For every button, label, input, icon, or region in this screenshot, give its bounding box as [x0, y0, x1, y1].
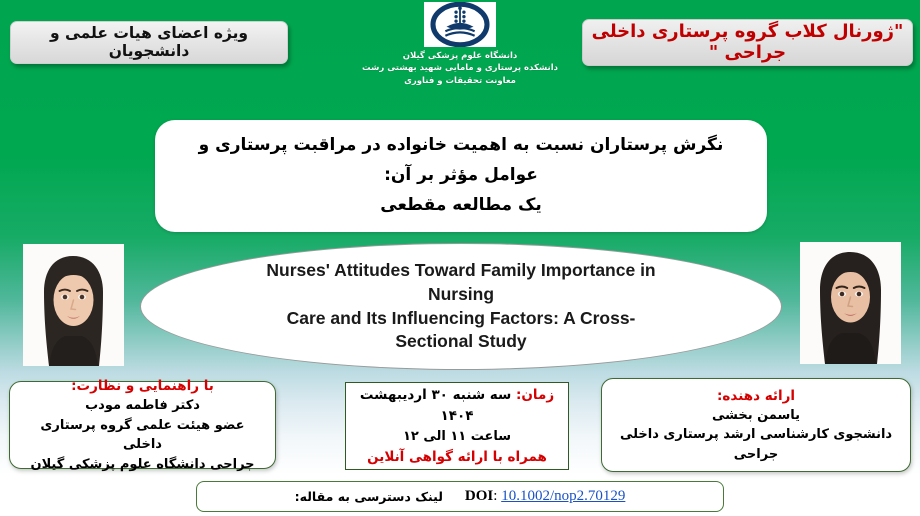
supervisor-portrait-photo [800, 242, 901, 364]
doi-link[interactable]: 10.1002/nop2.70129 [501, 488, 625, 504]
presenter-portrait-photo [23, 244, 124, 366]
article-doi-bar: DOI: 10.1002/nop2.70129 لینک دسترسی به م… [196, 481, 724, 512]
institution-names: دانشگاه علوم پزشکی گیلان دانشکده پرستاری… [362, 50, 558, 87]
schedule-certificate-note: همراه با ارائه گواهی آنلاین [367, 447, 547, 467]
english-title-line-2: Nursing [266, 283, 655, 307]
supervisor-name: دکتر فاطمه مودب [85, 396, 200, 416]
presenter-info-box: ارائه دهنده: یاسمن بخشی دانشجوی کارشناسی… [601, 378, 911, 472]
persian-title-text: نگرش پرستاران نسبت به اهمیت خانواده در م… [179, 131, 743, 220]
presenter-header: ارائه دهنده: [717, 386, 795, 406]
persian-title-line-2: یک مطالعه مقطعی [179, 191, 743, 221]
persian-title-card: نگرش پرستاران نسبت به اهمیت خانواده در م… [155, 120, 767, 232]
schedule-date-value: سه شنبه ۳۰ اردیبهشت ۱۴۰۴ [360, 387, 511, 424]
poster-canvas: ویژه اعضای هیات علمی و دانشجویان "ژورنال… [0, 0, 920, 516]
doi-persian-label: لینک دسترسی به مقاله: [295, 489, 443, 504]
english-title-line-1: Nurses' Attitudes Toward Family Importan… [266, 259, 655, 283]
university-emblem-icon [424, 2, 496, 46]
doi-key-label: DOI [465, 488, 493, 504]
supervisor-role-line-2: جراحی دانشگاه علوم پزشکی گیلان [30, 455, 254, 475]
english-title-line-4: Sectional Study [266, 330, 655, 354]
doi-text-group: DOI: 10.1002/nop2.70129 [465, 488, 625, 505]
supervisor-header: با راهنمایی و نظارت: [71, 376, 214, 396]
presenter-name: یاسمن بخشی [712, 406, 800, 426]
institution-line-3: معاونت تحقیقات و فناوری [362, 75, 558, 87]
schedule-time-line: ساعت ۱۱ الی ۱۲ [403, 427, 511, 447]
schedule-date-label: زمان: [516, 387, 554, 403]
supervisor-role-line-1: عضو هیئت علمی گروه پرستاری داخلی [20, 416, 265, 455]
english-title-line-3: Care and Its Influencing Factors: A Cros… [266, 307, 655, 331]
institution-block: دانشگاه علوم پزشکی گیلان دانشکده پرستاری… [0, 2, 920, 87]
institution-line-2: دانشکده پرستاری و مامایی شهید بهشتی رشت [362, 62, 558, 74]
presenter-role-line-2: جراحی [734, 445, 778, 465]
presenter-role-line-1: دانشجوی کارشناسی ارشد پرستاری داخلی [620, 425, 892, 445]
supervisor-info-box: با راهنمایی و نظارت: دکتر فاطمه مودب عضو… [9, 381, 276, 469]
english-title-text: Nurses' Attitudes Toward Family Importan… [266, 259, 655, 354]
persian-title-line-1: نگرش پرستاران نسبت به اهمیت خانواده در م… [179, 131, 743, 191]
schedule-info-box: زمان: سه شنبه ۳۰ اردیبهشت ۱۴۰۴ ساعت ۱۱ ا… [345, 382, 569, 470]
doi-separator: : [493, 488, 501, 504]
schedule-date-line: زمان: سه شنبه ۳۰ اردیبهشت ۱۴۰۴ [356, 385, 558, 427]
institution-line-1: دانشگاه علوم پزشکی گیلان [362, 50, 558, 62]
english-title-oval: Nurses' Attitudes Toward Family Importan… [140, 243, 782, 370]
